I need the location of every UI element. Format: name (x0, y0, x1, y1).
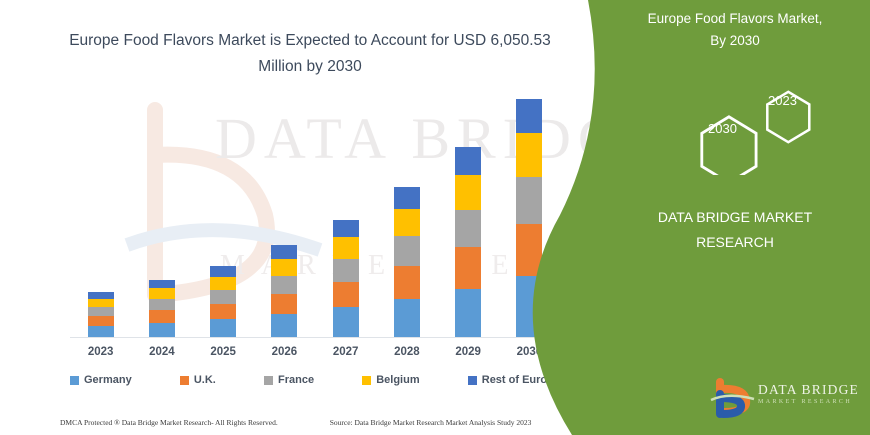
bar-segment-belgium (149, 288, 175, 298)
bar-segment-belgium (333, 237, 359, 258)
legend-item-france[interactable]: France (264, 374, 314, 386)
bar-segment-u-k (455, 247, 481, 289)
bar-segment-germany (149, 323, 175, 337)
chart-plot-area (70, 100, 560, 337)
bar-segment-rest-of-europe (333, 220, 359, 237)
stacked-bar (210, 266, 236, 337)
bar-column (503, 100, 555, 337)
stacked-bar (455, 147, 481, 337)
bar-segment-rest-of-europe (516, 99, 542, 134)
bar-segment-u-k (516, 224, 542, 276)
logo-text: DATA BRIDGE (758, 382, 859, 398)
stacked-bar (88, 292, 114, 337)
panel-content: Europe Food Flavors Market, By 2030 2030… (600, 0, 870, 435)
chart-title: Europe Food Flavors Market is Expected t… (60, 28, 560, 80)
panel-title: Europe Food Flavors Market, By 2030 (605, 8, 865, 52)
x-axis-line (70, 337, 560, 338)
company-logo: DATA BRIDGE MARKET RESEARCH (710, 378, 865, 420)
x-axis-label-2027: 2027 (320, 346, 372, 358)
bar-segment-u-k (394, 266, 420, 299)
bar-column (320, 100, 372, 337)
bar-segment-france (88, 307, 114, 316)
bar-segment-u-k (210, 304, 236, 320)
hexagon-group: 2030 2023 (680, 85, 870, 175)
bar-segment-rest-of-europe (210, 266, 236, 276)
legend-swatch-icon (70, 376, 79, 385)
legend-item-u-k[interactable]: U.K. (180, 374, 216, 386)
bar-segment-rest-of-europe (394, 187, 420, 209)
x-axis-label-2026: 2026 (258, 346, 310, 358)
bar-segment-rest-of-europe (271, 245, 297, 259)
legend-label: Belgium (376, 374, 419, 386)
x-axis-label-2024: 2024 (136, 346, 188, 358)
stacked-bar (271, 245, 297, 337)
bar-segment-rest-of-europe (88, 292, 114, 299)
panel-title-line1: Europe Food Flavors Market, (605, 8, 865, 30)
panel-title-line2: By 2030 (605, 30, 865, 52)
footer-source: Source: Data Bridge Market Research Mark… (330, 418, 532, 427)
footer-copyright: DMCA Protected ® Data Bridge Market Rese… (60, 418, 278, 427)
legend-label: Germany (84, 374, 132, 386)
hexagon-label-2030: 2030 (708, 121, 737, 136)
bar-segment-germany (394, 299, 420, 337)
brand-line-2: RESEARCH (610, 230, 860, 255)
legend-label: U.K. (194, 374, 216, 386)
brand-line-1: DATA BRIDGE MARKET (610, 205, 860, 230)
bar-segment-germany (516, 276, 542, 337)
bar-segment-france (394, 236, 420, 266)
stacked-bar (516, 99, 542, 338)
bar-segment-u-k (149, 310, 175, 322)
bar-segment-rest-of-europe (455, 147, 481, 175)
bar-column (197, 100, 249, 337)
x-axis-label-2023: 2023 (75, 346, 127, 358)
bar-segment-germany (210, 319, 236, 337)
x-axis-label-2025: 2025 (197, 346, 249, 358)
stacked-bar-chart: 20232024202520262027202820292030 (70, 100, 560, 340)
legend-swatch-icon (468, 376, 477, 385)
bar-segment-germany (88, 326, 114, 337)
x-axis-label-2029: 2029 (442, 346, 494, 358)
infographic-page: DATA BRIDGE MARKET RESEARCH Europe Food … (0, 0, 870, 435)
bar-segment-belgium (455, 175, 481, 210)
legend-swatch-icon (264, 376, 273, 385)
bar-segment-belgium (516, 133, 542, 177)
x-axis-label-2030: 2030 (503, 346, 555, 358)
chart-panel: DATA BRIDGE MARKET RESEARCH Europe Food … (0, 0, 600, 435)
legend-swatch-icon (362, 376, 371, 385)
panel-brand-text: DATA BRIDGE MARKET RESEARCH (610, 205, 860, 255)
bar-segment-france (271, 276, 297, 294)
logo-subtext: MARKET RESEARCH (758, 399, 852, 405)
bar-segment-france (333, 259, 359, 282)
footer: DMCA Protected ® Data Bridge Market Rese… (60, 414, 580, 430)
x-axis-label-2028: 2028 (381, 346, 433, 358)
legend-swatch-icon (180, 376, 189, 385)
bar-segment-france (210, 290, 236, 304)
bar-column (381, 100, 433, 337)
legend-label: France (278, 374, 314, 386)
bar-column (75, 100, 127, 337)
bar-column (442, 100, 494, 337)
bar-segment-u-k (333, 282, 359, 308)
bar-column (258, 100, 310, 337)
bar-segment-belgium (394, 209, 420, 236)
bar-segment-france (455, 210, 481, 248)
legend-label: Rest of Europe (482, 374, 560, 386)
bar-segment-france (149, 299, 175, 310)
bar-segment-belgium (271, 259, 297, 276)
chart-legend: GermanyU.K.FranceBelgiumRest of Europe (70, 370, 560, 390)
bar-segment-germany (455, 289, 481, 337)
bar-column (136, 100, 188, 337)
legend-item-germany[interactable]: Germany (70, 374, 132, 386)
data-bridge-logo-icon (710, 378, 756, 418)
x-axis-labels: 20232024202520262027202820292030 (70, 341, 560, 363)
stacked-bar (333, 220, 359, 337)
bar-segment-u-k (271, 294, 297, 314)
stacked-bar (149, 280, 175, 337)
legend-item-rest-of-europe[interactable]: Rest of Europe (468, 374, 560, 386)
bar-segment-germany (271, 314, 297, 337)
bar-segment-france (516, 177, 542, 224)
legend-item-belgium[interactable]: Belgium (362, 374, 419, 386)
stacked-bar (394, 187, 420, 337)
bar-segment-belgium (88, 299, 114, 307)
bar-segment-belgium (210, 277, 236, 290)
bar-segment-u-k (88, 316, 114, 326)
bar-segment-rest-of-europe (149, 280, 175, 289)
bar-segment-germany (333, 307, 359, 337)
hexagon-label-2023: 2023 (768, 93, 797, 108)
